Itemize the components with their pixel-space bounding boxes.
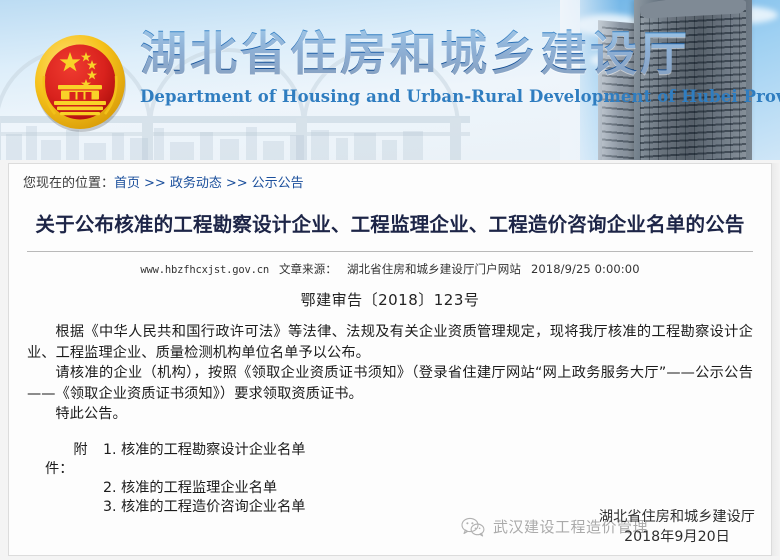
breadcrumb-separator-2: >> [226,176,248,191]
site-banner: 湖北省住房和城乡建设厅 Department of Housing and Ur… [0,0,780,160]
attachment-indent-3 [27,498,103,517]
attachment-item-3[interactable]: 3. 核准的工程造价咨询企业名单 [103,498,306,517]
breadcrumb-item-government-news[interactable]: 政务动态 [170,176,222,191]
page-root: 湖北省住房和城乡建设厅 Department of Housing and Ur… [0,0,780,560]
publish-datetime: 2018/9/25 0:00:00 [531,262,640,276]
article-body: 根据《中华人民共和国行政许可法》等法律、法规及有关企业资质管理规定，现将我厅核准… [27,322,753,425]
breadcrumb-label: 您现在的位置： [23,176,114,191]
article-card: 您现在的位置：首页>>政务动态>>公示公告 关于公布核准的工程勘察设计企业、工程… [8,163,772,556]
signature-date: 2018年9月20日 [599,527,755,547]
attachment-row-1: 附件： 1. 核准的工程勘察设计企业名单 [27,441,753,479]
body-paragraph-2: 请核准的企业（机构），按照《领取企业资质证书须知》（登录省住建厅网站“网上政务服… [27,363,753,404]
source-label: 文章来源： [279,262,337,276]
attachments-list: 附件： 1. 核准的工程勘察设计企业名单 2. 核准的工程监理企业名单 3. 核… [27,441,753,517]
site-title-en: Department of Housing and Urban-Rural De… [140,87,780,106]
attachment-item-2[interactable]: 2. 核准的工程监理企业名单 [103,479,277,498]
breadcrumb-item-home[interactable]: 首页 [114,176,140,191]
card-edge-shadow [772,163,780,556]
page-title: 关于公布核准的工程勘察设计企业、工程监理企业、工程造价咨询企业名单的公告 [33,210,747,239]
attachment-row-2: 2. 核准的工程监理企业名单 [27,479,753,498]
banner-title-group: 湖北省住房和城乡建设厅 Department of Housing and Ur… [140,26,780,106]
attachment-item-1[interactable]: 1. 核准的工程勘察设计企业名单 [103,441,306,479]
title-divider [27,251,753,252]
source-value: 湖北省住房和城乡建设厅门户网站 [347,262,521,276]
breadcrumb-item-announcements[interactable]: 公示公告 [252,176,304,191]
wechat-icon [461,517,485,537]
china-national-emblem-icon [28,30,132,134]
breadcrumb-separator-1: >> [144,176,166,191]
site-title-cn: 湖北省住房和城乡建设厅 [140,26,780,83]
attachment-indent-2 [27,479,103,498]
breadcrumb: 您现在的位置：首页>>政务动态>>公示公告 [9,164,771,194]
attachments-label: 附件： [27,441,103,479]
signature-organization: 湖北省住房和城乡建设厅 [599,507,755,527]
document-number: 鄂建审告〔2018〕123号 [9,289,771,310]
signature-block: 湖北省住房和城乡建设厅 2018年9月20日 [599,507,755,547]
site-url: www.hbzfhcxjst.gov.cn [140,264,269,276]
body-paragraph-1: 根据《中华人民共和国行政许可法》等法律、法规及有关企业资质管理规定，现将我厅核准… [27,322,753,363]
body-paragraph-3: 特此公告。 [27,404,753,425]
article-meta: www.hbzfhcxjst.gov.cn文章来源：湖北省住房和城乡建设厅门户网… [9,261,771,277]
